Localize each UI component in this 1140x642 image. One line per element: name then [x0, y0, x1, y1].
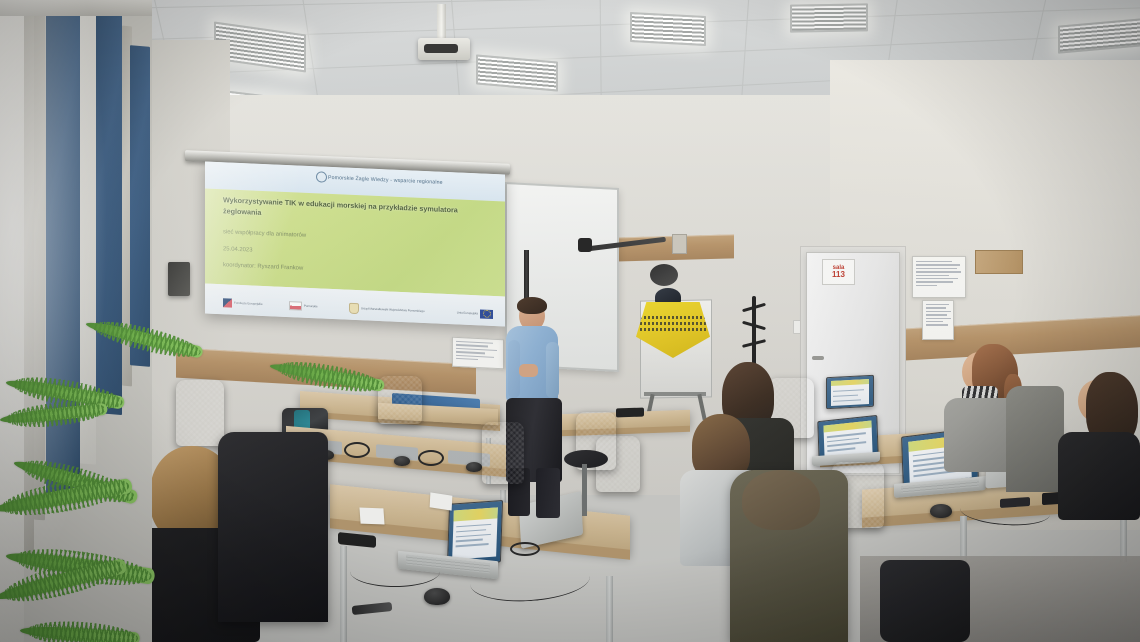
headset: [616, 408, 644, 418]
wall-wood-plaque: [975, 250, 1023, 274]
laptop-page-banner: [823, 420, 872, 432]
laptop-page-banner: [831, 379, 870, 386]
mouse[interactable]: [394, 456, 410, 466]
presenter-hands: [519, 364, 538, 377]
room-number-sign: sala 113: [822, 259, 855, 285]
mouse[interactable]: [424, 588, 450, 605]
mouse[interactable]: [930, 504, 952, 518]
slide-logo-unia-europejska: Unia Europejska: [457, 307, 493, 320]
projector-mount: [437, 4, 446, 40]
stool-post: [582, 464, 587, 516]
presenter-arm: [546, 342, 559, 398]
headset: [344, 442, 370, 458]
slide-logo-label: Urząd Marszałkowski Województwa Pomorski…: [361, 307, 425, 313]
laptop-back-left-screen: [826, 375, 874, 410]
boom-joint: [650, 264, 678, 286]
eu-flag-icon: [480, 309, 493, 319]
participant-top: [1058, 432, 1140, 520]
slide-logo-label: Unia Europejska: [457, 311, 478, 316]
room-sign-number: 113: [832, 271, 845, 279]
ceiling-light-panel: [630, 12, 706, 46]
jacket-on-chair: [218, 432, 328, 622]
wall-notice-wainscot: [452, 337, 504, 370]
laptop-page: [831, 379, 870, 406]
wall-fixture: [672, 234, 687, 254]
laptop-page-banner: [454, 507, 498, 521]
projector-lens-icon: [424, 44, 458, 53]
desk-leg: [606, 576, 613, 642]
fern-plant: [0, 352, 190, 642]
ceiling-light-panel: [790, 3, 868, 32]
bag-floor: [880, 560, 970, 642]
eyeglasses: [352, 602, 393, 615]
mouse[interactable]: [466, 462, 482, 472]
wall-speaker: [168, 262, 190, 296]
presenter-hair: [517, 297, 547, 314]
fern-frond: [20, 624, 141, 642]
classroom-scene: sala 113 Pomorskie Żagle Wiedzy - wsparc…: [0, 0, 1140, 642]
parka-fur-trim: [742, 470, 820, 530]
screen-glare: [205, 161, 316, 318]
paper-card: [359, 508, 384, 525]
cable: [350, 556, 440, 587]
laptop-keyboard[interactable]: [901, 479, 978, 493]
desk-leg: [340, 546, 347, 642]
office-chair[interactable]: [482, 422, 524, 484]
fern-frond-upper: [86, 318, 206, 330]
wall-notice-lower: [922, 300, 954, 340]
fern-frond: [0, 403, 108, 426]
projection-screen: Pomorskie Żagle Wiedzy - wsparcie region…: [205, 161, 505, 326]
laptop-page: [452, 507, 497, 559]
presenter-leg: [536, 468, 560, 518]
door-handle[interactable]: [812, 356, 824, 360]
fern-frond: [0, 478, 133, 517]
headset: [418, 450, 444, 466]
jacket-on-chair: [1006, 386, 1064, 492]
headset: [510, 542, 540, 556]
wall-notice-upper: [912, 256, 966, 298]
coat-of-arms-icon: [349, 303, 359, 314]
fern-frond-upper: [270, 360, 386, 372]
camera-head: [578, 238, 592, 252]
